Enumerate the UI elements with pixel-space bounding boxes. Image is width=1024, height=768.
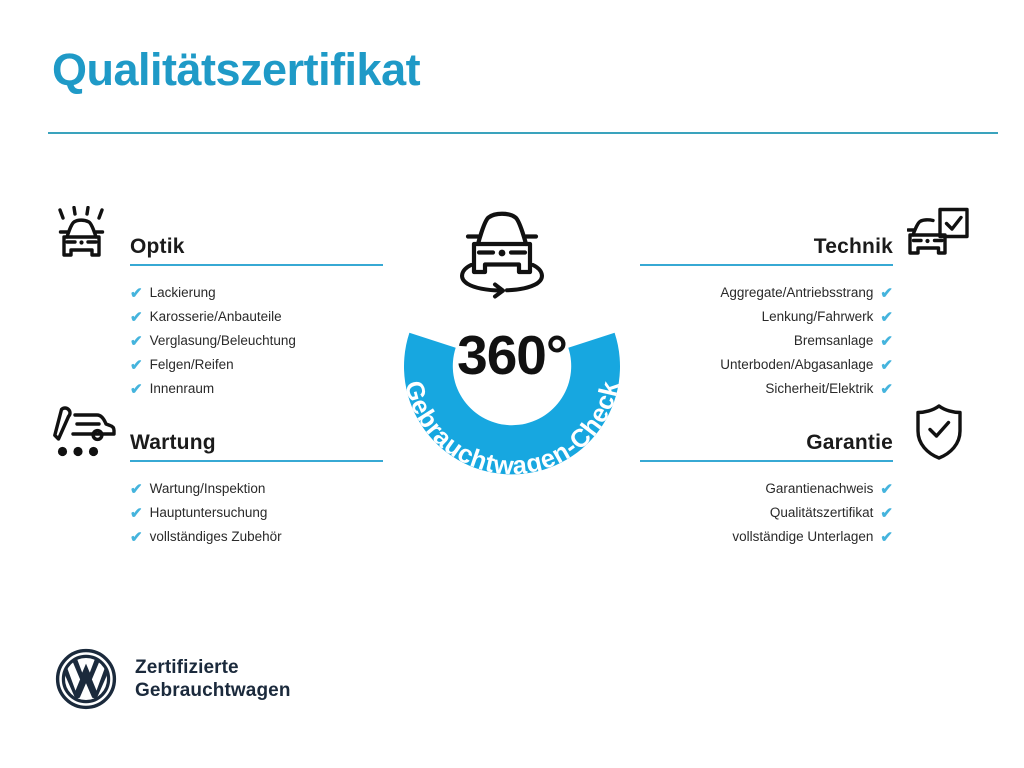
page-title: Qualitätszertifikat <box>52 46 420 93</box>
check-icon: ✔ <box>130 286 143 301</box>
list-item-label: vollständiges Zubehör <box>150 530 282 544</box>
shield-check-icon <box>902 398 976 466</box>
car-service-dipstick-icon <box>48 398 122 466</box>
list-item: ✔ Lackierung <box>130 281 383 305</box>
list-item: Unterboden/Abgasanlage ✔ <box>640 353 893 377</box>
check-icon: ✔ <box>130 358 143 373</box>
volkswagen-logo <box>55 648 117 710</box>
section-wartung-header: Wartung <box>48 398 393 466</box>
section-technik-header: Technik <box>631 202 976 270</box>
list-item-label: Lenkung/Fahrwerk <box>762 310 874 324</box>
section-wartung-underline <box>130 460 383 462</box>
list-item-label: Karosserie/Anbauteile <box>150 310 282 324</box>
check-icon: ✔ <box>130 382 143 397</box>
section-technik-title-wrap: Technik <box>640 236 893 266</box>
section-optik: Optik ✔ Lackierung ✔ Karosserie/Anbautei… <box>48 202 393 270</box>
car-rotation-360-icon <box>462 214 542 297</box>
list-item-label: Hauptuntersuchung <box>150 506 268 520</box>
list-item-label: Qualitätszertifikat <box>770 506 874 520</box>
list-item: ✔ Felgen/Reifen <box>130 353 383 377</box>
list-item-label: vollständige Unterlagen <box>732 530 873 544</box>
list-item: ✔ Karosserie/Anbauteile <box>130 305 383 329</box>
360-check-graphic: Gebrauchtwagen-Check 360° <box>372 196 652 486</box>
list-item-label: Sicherheit/Elektrik <box>765 382 873 396</box>
list-item-label: Verglasung/Beleuchtung <box>150 334 296 348</box>
check-icon: ✔ <box>880 358 893 373</box>
section-optik-title-wrap: Optik <box>130 236 383 266</box>
ring-center-label: 360° <box>372 328 652 383</box>
list-item-label: Bremsanlage <box>794 334 874 348</box>
list-item-label: Unterboden/Abgasanlage <box>720 358 873 372</box>
section-wartung-title-wrap: Wartung <box>130 432 383 462</box>
section-garantie-title-wrap: Garantie <box>640 432 893 462</box>
section-technik: Technik Aggregate/Antriebsstrang ✔ Lenku… <box>631 202 976 270</box>
check-icon: ✔ <box>880 382 893 397</box>
section-garantie: Garantie Garantienachweis ✔ Qualitätszer… <box>631 398 976 466</box>
list-item-label: Garantienachweis <box>765 482 873 496</box>
section-garantie-title: Garantie <box>640 432 893 453</box>
check-icon: ✔ <box>130 530 143 545</box>
check-icon: ✔ <box>880 286 893 301</box>
quality-certificate-page: Qualitätszertifikat <box>0 0 1024 768</box>
check-icon: ✔ <box>880 506 893 521</box>
check-icon: ✔ <box>880 310 893 325</box>
header-divider <box>48 132 998 134</box>
section-optik-underline <box>130 264 383 266</box>
brand-text: Zertifizierte Gebrauchtwagen <box>135 656 291 702</box>
brand-lockup: Zertifizierte Gebrauchtwagen <box>55 648 291 710</box>
list-item: ✔ vollständiges Zubehör <box>130 525 383 549</box>
list-item: Garantienachweis ✔ <box>640 477 893 501</box>
car-checkbox-icon <box>902 202 976 270</box>
section-garantie-header: Garantie <box>631 398 976 466</box>
check-icon: ✔ <box>880 334 893 349</box>
section-technik-title: Technik <box>640 236 893 257</box>
list-item: Bremsanlage ✔ <box>640 329 893 353</box>
car-shine-icon <box>48 202 122 270</box>
list-item: ✔ Verglasung/Beleuchtung <box>130 329 383 353</box>
list-item: Aggregate/Antriebsstrang ✔ <box>640 281 893 305</box>
list-item-label: Aggregate/Antriebsstrang <box>720 286 873 300</box>
list-item: ✔ Hauptuntersuchung <box>130 501 383 525</box>
section-optik-header: Optik <box>48 202 393 270</box>
list-item-label: Innenraum <box>150 382 215 396</box>
section-wartung: Wartung ✔ Wartung/Inspektion ✔ Hauptunte… <box>48 398 393 466</box>
check-icon: ✔ <box>130 334 143 349</box>
check-icon: ✔ <box>880 530 893 545</box>
list-item: vollständige Unterlagen ✔ <box>640 525 893 549</box>
list-item-label: Wartung/Inspektion <box>150 482 266 496</box>
section-technik-list: Aggregate/Antriebsstrang ✔ Lenkung/Fahrw… <box>640 281 893 401</box>
section-wartung-title: Wartung <box>130 432 383 453</box>
section-optik-title: Optik <box>130 236 383 257</box>
section-wartung-list: ✔ Wartung/Inspektion ✔ Hauptuntersuchung… <box>130 477 383 549</box>
brand-line-1: Zertifizierte <box>135 656 291 679</box>
list-item-label: Felgen/Reifen <box>150 358 234 372</box>
list-item: ✔ Wartung/Inspektion <box>130 477 383 501</box>
list-item: Lenkung/Fahrwerk ✔ <box>640 305 893 329</box>
section-garantie-underline <box>640 460 893 462</box>
check-icon: ✔ <box>880 482 893 497</box>
brand-line-2: Gebrauchtwagen <box>135 679 291 702</box>
check-icon: ✔ <box>130 310 143 325</box>
check-icon: ✔ <box>130 482 143 497</box>
section-garantie-list: Garantienachweis ✔ Qualitätszertifikat ✔… <box>640 477 893 549</box>
list-item-label: Lackierung <box>150 286 216 300</box>
check-icon: ✔ <box>130 506 143 521</box>
section-optik-list: ✔ Lackierung ✔ Karosserie/Anbauteile ✔ V… <box>130 281 383 401</box>
section-technik-underline <box>640 264 893 266</box>
list-item: Qualitätszertifikat ✔ <box>640 501 893 525</box>
